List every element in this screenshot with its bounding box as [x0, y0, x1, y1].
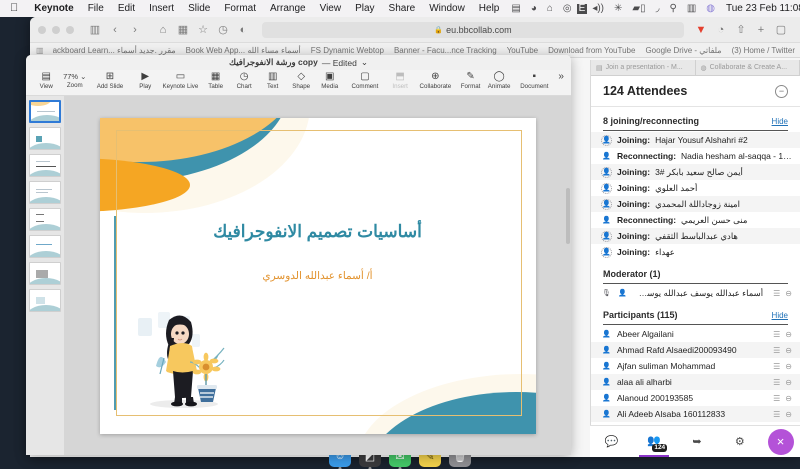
bookmark-item[interactable]: ackboard Learn... مقرر .جديد أسماء [53, 46, 176, 55]
toolbar-label: Insert [392, 83, 407, 90]
wifi-icon[interactable]: ◞ [651, 4, 665, 14]
mac-menu-bar:  Keynote File Edit Insert Slide Format … [0, 0, 800, 17]
bookmark-item[interactable]: Book Web App... أسماء مساء الله [186, 46, 301, 55]
row-status-icon[interactable]: ⊖ [785, 330, 792, 339]
collaborate-icon: ⊕ [431, 72, 439, 82]
toolbar-chart-button[interactable]: ◷ Chart [230, 71, 259, 90]
bookmark-item[interactable]: Banner - Facu...nce Tracking [394, 46, 497, 55]
row-status-icon[interactable]: ⊖ [785, 394, 792, 403]
url-bar[interactable]: 🔒 eu.bbcollab.com [262, 22, 684, 38]
joining-name: هادي عبدالباسط الثقفي [655, 231, 738, 242]
animate-icon: ◯ [494, 72, 505, 82]
joining-name: امينة زوجاداللة المحمدي [655, 199, 740, 210]
joining-status: Joining: [617, 183, 650, 193]
person-icon: 👤 [617, 288, 628, 299]
slide-thumbnail-5[interactable] [29, 208, 61, 231]
participants-list: 👤 Abeer Algailani ☰ ⊖ 👤 Ahmad Rafd Alsae… [591, 326, 800, 422]
row-status-icon[interactable]: ⊖ [785, 346, 792, 355]
toolbar-play-button[interactable]: ▶ Play [131, 71, 160, 90]
person-icon: 👤 [601, 135, 612, 146]
search-icon[interactable]: ⚲ [664, 4, 681, 14]
toolbar-view-button[interactable]: ▤ View [32, 71, 61, 90]
menu-item-insert[interactable]: Insert [142, 4, 181, 14]
thumb-image-block [36, 297, 45, 304]
bookmarks-icon[interactable]: ☆ [194, 21, 212, 39]
thumb-text-line [37, 111, 55, 112]
chat-icon[interactable]: 💬 [596, 427, 626, 457]
joining-row[interactable]: 👤 Reconnecting: منى حسن العريمي [591, 212, 800, 228]
back-icon[interactable]: ‹ [106, 21, 124, 39]
row-menu-icon[interactable]: ☰ [773, 289, 780, 298]
menu-item-arrange[interactable]: Arrange [263, 4, 313, 14]
bookmark-item[interactable]: YouTube [507, 46, 538, 55]
apple-icon[interactable]:  [10, 3, 18, 14]
forward-icon[interactable]: › [126, 21, 144, 39]
attendees-header: 124 Attendees − [591, 76, 800, 107]
joining-section-header: 8 joining/reconnecting Hide [591, 107, 800, 130]
row-status-icon[interactable]: ⊖ [785, 410, 792, 419]
bookmark-item[interactable]: Google Drive - ملفاتي [645, 46, 721, 55]
copy-icon[interactable]: ▢ [772, 21, 790, 39]
chevron-right-double-icon: » [558, 72, 564, 82]
page-icon: ▤ [596, 64, 603, 72]
thumb-text-line [36, 136, 42, 142]
toolbar-zoom-control[interactable]: 77% ⌄ Zoom [61, 71, 90, 89]
browser-tab-collaborate-create[interactable]: ◍ Collaborate & Create A... [696, 60, 800, 75]
joining-section-title: 8 joining/reconnecting [603, 116, 699, 126]
attendees-count-title: 124 Attendees [603, 84, 687, 98]
joining-row[interactable]: 👤 Joining: امينة زوجاداللة المحمدي [591, 196, 800, 212]
joining-name: Hajar Yousuf Alshahri #2 [655, 135, 748, 145]
keynote-titlebar: ورشة الانفوجرافيك copy — Edited ⌄ [26, 55, 571, 70]
chevron-down-icon[interactable]: ⌄ [361, 57, 368, 68]
toolbar-label: Shape [292, 83, 310, 90]
joining-row[interactable]: 👤 Reconnecting: Nadia hesham al-saqqa - … [591, 148, 800, 164]
keynote-doc-title: ورشة الانفوجرافيك copy [229, 57, 318, 68]
screen-share-icon[interactable]: ▤ [506, 4, 525, 14]
row-status-icon[interactable]: ⊖ [785, 289, 792, 298]
participant-row[interactable]: 👤 Alanoud 200193585 ☰ ⊖ [591, 390, 800, 406]
bookmark-item[interactable]: Download from YouTube [548, 46, 635, 55]
bookmark-item[interactable]: FS Dynamic Webtop [311, 46, 384, 55]
moderator-row[interactable]: 🎙 👤 أسماء عبدالله يوسف عبدالله يوسف الوك… [591, 285, 800, 301]
toolbar-label: Comment [352, 83, 379, 90]
slide-thumbnail-8[interactable] [29, 289, 61, 312]
toolbar-label: Document [520, 83, 548, 90]
toolbar-format-button[interactable]: ✎ Format [456, 71, 485, 90]
participants-section-header: Participants (115) Hide [591, 301, 800, 324]
slide-thumbnail-2[interactable] [29, 127, 61, 150]
participant-name: Alanoud 200193585 [617, 393, 693, 403]
joining-status: Joining: [617, 231, 650, 241]
tabs-overview-icon[interactable]: ▦ [174, 21, 192, 39]
minus-circle-icon[interactable]: − [775, 85, 788, 98]
keynote-window: ورشة الانفوجرافيك copy — Edited ⌄ ▤ View… [26, 55, 571, 455]
joining-list: 👤 Joining: Hajar Yousuf Alshahri #2 👤 Re… [591, 132, 800, 260]
joining-row[interactable]: 👤 Joining: أحمد العلوي [591, 180, 800, 196]
menu-item-share[interactable]: Share [382, 4, 423, 14]
bookmarks-grid-icon[interactable]: ▥ [36, 46, 43, 55]
participant-name: Ali Adeeb Alsaba 160112833 [617, 409, 725, 419]
joining-row[interactable]: 👤 Joining: Hajar Yousuf Alshahri #2 [591, 132, 800, 148]
camera-icon[interactable]: ◕ [526, 4, 542, 14]
view-icon: ▤ [42, 72, 51, 82]
participant-row[interactable]: 👤 Ahmad Rafd Alsaedi200093490 ☰ ⊖ [591, 342, 800, 358]
joining-status: Reconnecting: [617, 215, 676, 225]
toolbar-collaborate-button[interactable]: ⊕ Collaborate [414, 71, 456, 90]
sidebar-icon[interactable]: ▥ [86, 21, 104, 39]
menubar-clock[interactable]: Tue 23 Feb 11:08 AM [720, 3, 800, 14]
thumb-decor [29, 115, 61, 123]
slide-thumbnail-3[interactable] [29, 154, 61, 177]
joining-name: أيمن صالح سعيد بابكر #3 [655, 167, 743, 178]
table-icon: ▦ [211, 72, 220, 82]
attendees-badge: 124 [652, 444, 667, 452]
menu-item-keynote[interactable]: Keynote [27, 4, 80, 14]
keynote-edited-label: — Edited [322, 58, 357, 68]
slide-thumbnail-6[interactable] [29, 235, 61, 258]
toolbar-shape-button[interactable]: ◇ Shape [287, 71, 316, 90]
slide-canvas[interactable]: أساسيات تصميم الانفوجرافيك أ/ أسماء عبدا… [64, 96, 571, 455]
browser-toolbar: ▥ ‹ › ⌂ ▦ ☆ ◷ ◐ 🔒 eu.bbcollab.com ▼ ◔ ⇧ … [30, 17, 800, 43]
extension-icon[interactable]: ◔ [712, 21, 730, 39]
joining-name: عهداء [655, 247, 675, 258]
shape-icon: ◇ [297, 72, 305, 82]
airplay-icon[interactable]: ⌂ [542, 4, 558, 14]
thumb-text-line [36, 161, 50, 162]
joining-status: Joining: [617, 247, 650, 257]
toolbar-media-button[interactable]: ▣ Media [315, 71, 344, 90]
lock-icon: 🔒 [434, 26, 443, 34]
person-icon: 👤 [601, 183, 612, 194]
joining-status: Joining: [617, 167, 650, 177]
row-menu-icon[interactable]: ☰ [773, 330, 780, 339]
participants-divider [603, 324, 788, 325]
thumb-text-line [36, 214, 44, 215]
zoom-value: 77% ⌄ [63, 72, 86, 81]
toolbar-label: View [40, 83, 53, 90]
row-menu-icon[interactable]: ☰ [773, 346, 780, 355]
current-slide[interactable]: أساسيات تصميم الانفوجرافيك أ/ أسماء عبدا… [100, 118, 536, 434]
battery-icon[interactable]: ▰▯ [627, 4, 650, 14]
participant-row[interactable]: 👤 Abeer Algailani ☰ ⊖ [591, 326, 800, 342]
person-icon: 👤 [601, 247, 612, 258]
joining-row[interactable]: 👤 Joining: هادي عبدالباسط الثقفي [591, 228, 800, 244]
microphone-icon[interactable]: 🎙 [601, 288, 612, 299]
toolbar-overflow-button[interactable]: » [555, 71, 567, 82]
evernote-icon[interactable]: E [577, 4, 588, 14]
share-icon[interactable]: ⇧ [732, 21, 750, 39]
row-menu-icon[interactable]: ☰ [773, 362, 780, 371]
participant-name: Ajfan suliman Mohammad [617, 361, 715, 371]
toolbar-text-button[interactable]: ▥ Text [258, 71, 287, 90]
row-menu-icon[interactable]: ☰ [773, 394, 780, 403]
thumb-decor [29, 170, 61, 177]
canvas-scrollbar[interactable] [566, 188, 570, 425]
thumb-decor [29, 278, 61, 285]
participant-row[interactable]: 👤 Ali Adeeb Alsaba 160112833 ☰ ⊖ [591, 406, 800, 422]
menu-item-format[interactable]: Format [217, 4, 263, 14]
keynote-live-icon: ▭ [176, 72, 185, 82]
siri-icon[interactable]: ◍ [701, 4, 720, 14]
slide-left-accent-bar [114, 216, 116, 410]
share-content-icon[interactable]: ➥ [682, 427, 712, 457]
moderator-section-title: Moderator (1) [603, 269, 661, 279]
home-icon[interactable]: ⌂ [154, 21, 172, 39]
row-status-icon[interactable]: ⊖ [785, 362, 792, 371]
moderator-section-header: Moderator (1) [591, 260, 800, 283]
volume-icon[interactable]: ◂)) [587, 4, 609, 14]
menu-item-play[interactable]: Play [348, 4, 381, 14]
joining-row[interactable]: 👤 Joining: أيمن صالح سعيد بابكر #3 [591, 164, 800, 180]
toolbar-label: Chart [237, 83, 252, 90]
row-status-icon[interactable]: ⊖ [785, 378, 792, 387]
menu-item-slide[interactable]: Slide [181, 4, 217, 14]
participant-row[interactable]: 👤 alaa ali alharbi ☰ ⊖ [591, 374, 800, 390]
slide-navigator[interactable] [26, 96, 64, 455]
window-traffic-lights[interactable] [38, 26, 74, 34]
thumb-text-line [36, 189, 52, 190]
thumb-text-line [36, 166, 56, 167]
document-icon: ▪ [533, 72, 537, 82]
toolbar-label: Format [461, 83, 481, 90]
participant-name: Abeer Algailani [617, 329, 674, 339]
toolbar-label: Play [139, 83, 151, 90]
toolbar-insert-button: ⬒ Insert [386, 71, 415, 90]
joining-status: Reconnecting: [617, 151, 676, 161]
toolbar-table-button[interactable]: ▦ Table [201, 71, 230, 90]
toolbar-keynote-live-button[interactable]: ▭ Keynote Live [159, 71, 201, 90]
joining-name: منى حسن العريمي [681, 215, 747, 226]
thumb-text-line [36, 192, 48, 193]
thumb-decor [29, 305, 61, 312]
reader-icon[interactable]: ◐ [234, 21, 252, 39]
participant-name: Ahmad Rafd Alsaedi200093490 [617, 345, 737, 355]
slide-thumbnail-1[interactable] [29, 100, 61, 123]
slide-thumbnail-7[interactable] [29, 262, 61, 285]
keynote-body: أساسيات تصميم الانفوجرافيك أ/ أسماء عبدا… [26, 96, 571, 455]
toolbar-animate-button[interactable]: ◯ Animate [485, 71, 514, 90]
toolbar-label: Add Slide [97, 83, 124, 90]
play-icon: ▶ [141, 72, 149, 82]
person-icon: 👤 [601, 393, 612, 404]
url-text: eu.bbcollab.com [446, 25, 512, 35]
add-slide-icon: ⊞ [106, 72, 114, 82]
menu-item-window[interactable]: Window [422, 4, 472, 14]
person-icon: 👤 [601, 345, 612, 356]
thumb-decor [29, 143, 61, 150]
menu-item-edit[interactable]: Edit [111, 4, 142, 14]
joining-hide-link[interactable]: Hide [772, 117, 788, 126]
moderator-divider [603, 283, 788, 284]
joining-name: أحمد العلوي [655, 183, 697, 194]
toolbar-document-button[interactable]: ▪ Document [513, 71, 555, 90]
browser-tab-label: Collaborate & Create A... [710, 64, 787, 71]
participants-section-title: Participants (115) [603, 310, 678, 320]
slide-subtitle[interactable]: أ/ أسماء عبدالله الدوسري [100, 270, 536, 282]
toolbar-label: Keynote Live [163, 83, 199, 90]
gear-icon[interactable]: ⚙ [725, 427, 755, 457]
comment-icon: ▢ [360, 72, 369, 82]
bluetooth-icon[interactable]: ✳ [609, 4, 627, 14]
person-icon: 👤 [601, 361, 612, 372]
toolbar-add-slide-button[interactable]: ⊞ Add Slide [89, 71, 131, 90]
new-tab-icon[interactable]: + [752, 21, 770, 39]
browser-tab-join-presentation[interactable]: ▤ Join a presentation - M... [591, 60, 696, 75]
slide-title[interactable]: أساسيات تصميم الانفوجرافيك [100, 222, 536, 242]
toolbar-label: Zoom [67, 82, 83, 89]
row-menu-icon[interactable]: ☰ [773, 378, 780, 387]
toolbar-comment-button[interactable]: ▢ Comment [344, 71, 386, 90]
thumb-text-line [36, 244, 52, 245]
download-icon[interactable]: ▼ [692, 21, 710, 39]
person-icon: 👤 [601, 151, 612, 162]
joining-row[interactable]: 👤 Joining: عهداء [591, 244, 800, 260]
toolbar-label: Table [208, 83, 223, 90]
person-icon: 👤 [601, 231, 612, 242]
timemachine-icon[interactable]: ◎ [558, 4, 577, 14]
globe-icon: ◍ [701, 64, 707, 72]
participants-hide-link[interactable]: Hide [772, 311, 788, 320]
thumb-text-line [36, 221, 44, 222]
controlcenter-icon[interactable]: ▥ [682, 4, 701, 14]
browser-tab-strip: ▤ Join a presentation - M... ◍ Collabora… [591, 60, 800, 76]
toolbar-label: Media [321, 83, 338, 90]
person-icon: 👤 [601, 329, 612, 340]
keynote-toolbar: ▤ View 77% ⌄ Zoom ⊞ Add Slide ▶ Play ▭ K… [26, 70, 571, 96]
girl-with-sunflower-illustration[interactable] [136, 304, 246, 412]
slide-thumbnail-4[interactable] [29, 181, 61, 204]
joining-name: Nadia hesham al-saqqa - 18... [681, 151, 792, 161]
attendees-panel: ▤ Join a presentation - M... ◍ Collabora… [590, 60, 800, 457]
screen:  Keynote File Edit Insert Slide Format … [0, 0, 800, 469]
toolbar-label: Collaborate [420, 83, 452, 90]
text-icon: ▥ [268, 72, 277, 82]
row-menu-icon[interactable]: ☰ [773, 410, 780, 419]
menu-item-view[interactable]: View [313, 4, 349, 14]
thumb-decor [29, 251, 61, 258]
thumb-image-block [36, 270, 48, 278]
format-icon: ✎ [466, 72, 474, 82]
person-icon: 👤 [601, 167, 612, 178]
participant-row[interactable]: 👤 Ajfan suliman Mohammad ☰ ⊖ [591, 358, 800, 374]
person-icon: 👤 [601, 377, 612, 388]
thumb-decor [29, 197, 61, 204]
history-icon[interactable]: ◷ [214, 21, 232, 39]
browser-tab-label: Join a presentation - M... [606, 64, 683, 71]
bookmark-item[interactable]: (3) Home / Twitter [732, 46, 795, 55]
joining-status: Joining: [617, 135, 650, 145]
menu-item-file[interactable]: File [81, 4, 111, 14]
person-icon: 👤 [601, 215, 612, 226]
person-icon: 👤 [601, 409, 612, 420]
toolbar-label: Animate [488, 83, 511, 90]
joining-divider [603, 130, 788, 131]
thumb-decor [29, 224, 61, 231]
thumb-decor [29, 100, 51, 106]
person-icon: 👤 [601, 199, 612, 210]
collaborate-bottom-bar: 💬 👥 124 ➥ ⚙ × [590, 425, 800, 457]
close-icon[interactable]: × [768, 429, 794, 455]
chart-icon: ◷ [240, 72, 249, 82]
joining-status: Joining: [617, 199, 650, 209]
attendees-icon[interactable]: 👥 124 [639, 427, 669, 457]
media-icon: ▣ [325, 72, 334, 82]
toolbar-label: Text [267, 83, 278, 90]
insert-icon: ⬒ [395, 72, 404, 82]
participant-name: alaa ali alharbi [617, 377, 672, 387]
moderator-name: أسماء عبدالله يوسف عبدالله يوسف الوكامين… [633, 288, 763, 299]
menu-item-help[interactable]: Help [472, 4, 507, 14]
